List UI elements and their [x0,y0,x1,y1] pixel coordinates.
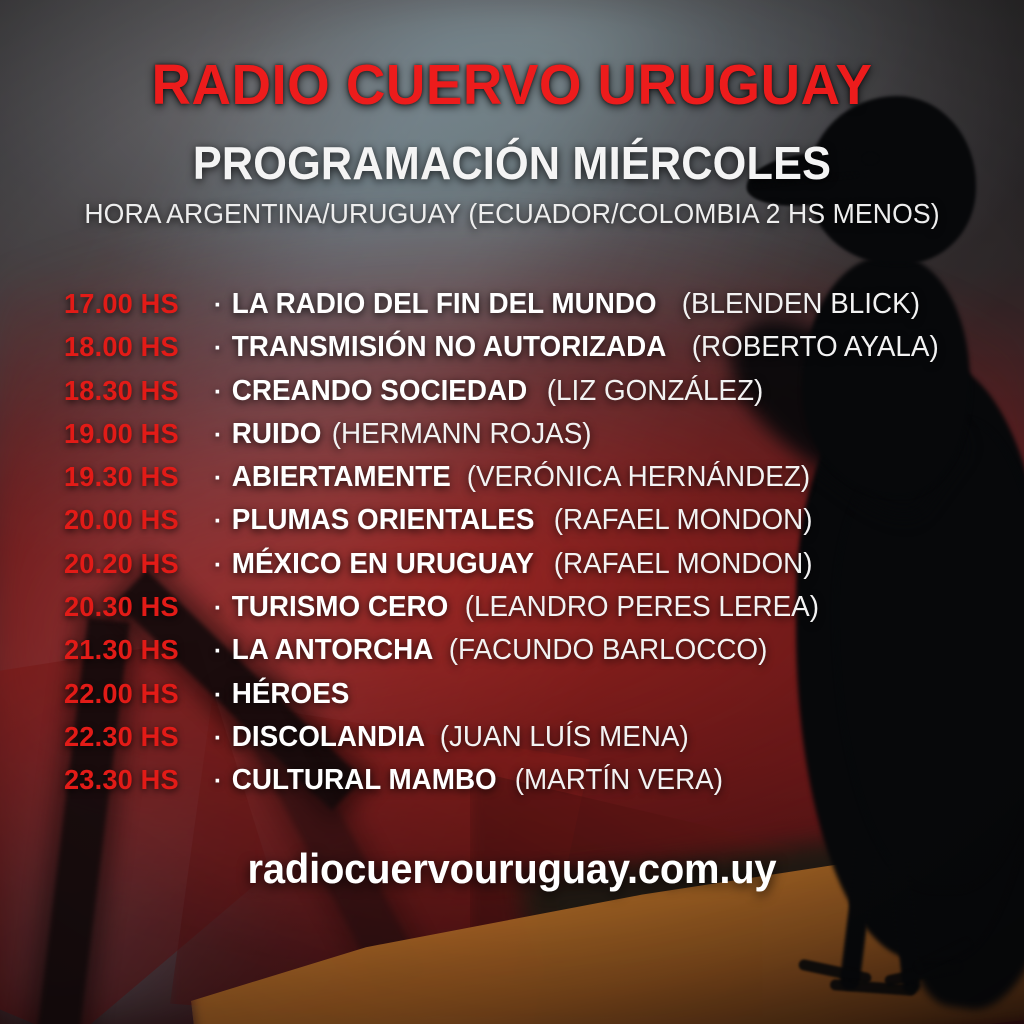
schedule-host: (LIZ GONZÁLEZ) [540,375,763,408]
schedule-host: (ROBERTO AYALA) [685,331,939,364]
schedule-time: 18.00 HS [64,331,206,363]
schedule-host: (JUAN LUÍS MENA) [433,721,689,754]
schedule-host: (HERMANN ROJAS) [325,418,592,451]
schedule-time: 20.00 HS [64,504,206,536]
schedule-row: 21.30 HS·LA ANTORCHA(FACUNDO BARLOCCO) [64,634,984,677]
schedule-host: (RAFAEL MONDON) [547,548,813,581]
schedule-program: CREANDO SOCIEDAD [226,375,527,408]
schedule-row: 22.30 HS·DISCOLANDIA(JUAN LUÍS MENA) [64,721,984,764]
schedule-program: LA RADIO DEL FIN DEL MUNDO [226,288,657,321]
schedule-host: (VERÓNICA HERNÁNDEZ) [460,461,810,494]
schedule-separator: · [210,551,226,580]
schedule-row: 19.00 HS·RUIDO(HERMANN ROJAS) [64,418,984,461]
schedule-program: LA ANTORCHA [226,634,433,667]
schedule-program: MÉXICO EN URUGUAY [226,548,534,581]
poster-content: RADIO CUERVO URUGUAY PROGRAMACIÓN MIÉRCO… [0,0,1024,1024]
schedule-separator: · [210,291,226,320]
poster: RADIO CUERVO URUGUAY PROGRAMACIÓN MIÉRCO… [0,0,1024,1024]
schedule-host: (MARTÍN VERA) [508,764,723,797]
schedule-time: 17.00 HS [64,288,206,320]
schedule-time: 18.30 HS [64,375,206,407]
schedule-separator: · [210,421,226,450]
schedule-host: (BLENDEN BLICK) [675,288,920,321]
schedule-time: 22.00 HS [64,678,206,710]
schedule-program: HÉROES [226,678,349,711]
schedule-row: 20.00 HS·PLUMAS ORIENTALES(RAFAEL MONDON… [64,504,984,547]
schedule-time: 20.20 HS [64,548,206,580]
schedule-row: 20.30 HS·TURISMO CERO(LEANDRO PERES LERE… [64,591,984,634]
schedule-time: 19.30 HS [64,461,206,493]
schedule-time: 23.30 HS [64,764,206,796]
schedule-separator: · [210,767,226,796]
schedule-program: PLUMAS ORIENTALES [226,504,534,537]
schedule-separator: · [210,724,226,753]
schedule-separator: · [210,378,226,407]
schedule-row: 20.20 HS·MÉXICO EN URUGUAY(RAFAEL MONDON… [64,548,984,591]
schedule-row: 19.30 HS·ABIERTAMENTE(VERÓNICA HERNÁNDEZ… [64,461,984,504]
schedule-program: DISCOLANDIA [226,721,425,754]
schedule-time: 20.30 HS [64,591,206,623]
schedule-time: 22.30 HS [64,721,206,753]
schedule-time: 21.30 HS [64,634,206,666]
schedule-host: (LEANDRO PERES LEREA) [458,591,819,624]
timezone-note: HORA ARGENTINA/URUGUAY (ECUADOR/COLOMBIA… [26,198,999,230]
schedule-separator: · [210,464,226,493]
schedule-program: TRANSMISIÓN NO AUTORIZADA [226,331,666,364]
schedule-program: CULTURAL MAMBO [226,764,497,797]
schedule-separator: · [210,507,226,536]
website-url[interactable]: radiocuervouruguay.com.uy [26,845,999,893]
station-name: RADIO CUERVO URUGUAY [20,52,1003,118]
schedule-separator: · [210,334,226,363]
schedule-program: RUIDO [226,418,321,451]
schedule-row: 18.00 HS·TRANSMISIÓN NO AUTORIZADA(ROBER… [64,331,984,374]
schedule-separator: · [210,594,226,623]
schedule-row: 18.30 HS·CREANDO SOCIEDAD(LIZ GONZÁLEZ) [64,375,984,418]
schedule-host: (FACUNDO BARLOCCO) [442,634,767,667]
schedule-row: 17.00 HS·LA RADIO DEL FIN DEL MUNDO(BLEN… [64,288,984,331]
page-title: PROGRAMACIÓN MIÉRCOLES [31,136,994,190]
schedule-program: TURISMO CERO [226,591,448,624]
schedule-time: 19.00 HS [64,418,206,450]
schedule-list: 17.00 HS·LA RADIO DEL FIN DEL MUNDO(BLEN… [64,288,984,808]
schedule-program: ABIERTAMENTE [226,461,451,494]
schedule-separator: · [210,681,226,710]
schedule-host: (RAFAEL MONDON) [547,504,813,537]
schedule-row: 23.30 HS·CULTURAL MAMBO(MARTÍN VERA) [64,764,984,807]
schedule-separator: · [210,637,226,666]
schedule-row: 22.00 HS·HÉROES [64,678,984,721]
